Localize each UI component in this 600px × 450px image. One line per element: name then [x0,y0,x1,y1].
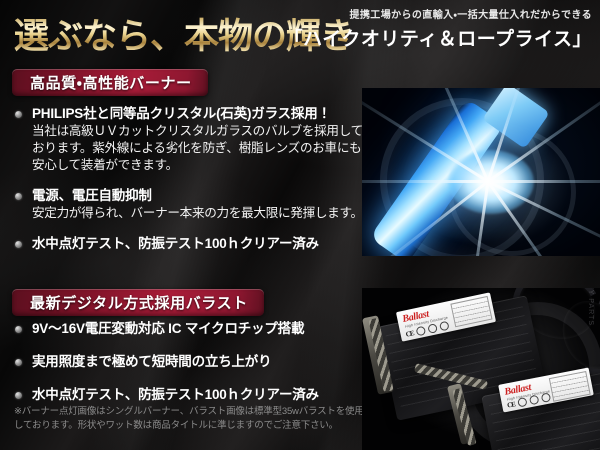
subheading-block: 提携工場からの直輸入・一括大量仕入れだからできる 「ハイクオリティ＆ロープライス… [284,6,592,51]
feature-list-burner: PHILIPS社と同等品クリスタル(石英)ガラス採用！ 当社は高級ＵＶカットクリ… [10,105,360,261]
list-item: 水中点灯テスト、防振テスト100ｈクリアー済み [10,235,360,252]
ballast-label-spec-table [450,296,492,327]
ballast-photo-watermark: HIGH QUALITY PARTS [587,288,594,326]
list-item-title: 水中点灯テスト、防振テスト100ｈクリアー済み [32,386,360,403]
list-item: 電源、電圧自動抑制 安定力が得られ、バーナー本来の力を最大限に発揮します。 [10,187,360,222]
section-badge-burner: 高品質・高性能バーナー [12,69,208,96]
list-item-title: 水中点灯テスト、防振テスト100ｈクリアー済み [32,235,360,252]
footnote-disclaimer: ※バーナー点灯画像はシングルバーナー、バラスト画像は標準型35wバラストを使用 … [14,405,359,433]
iso-mark-icon [439,321,450,332]
list-item-title: 9V〜16V電圧変動対応 IC マイクロチップ搭載 [32,320,360,337]
list-item-body-line: おります。紫外線による劣化を防ぎ、樹脂レンズのお車にも [32,140,360,157]
rohs-mark-icon [415,326,426,337]
bullet-dot-icon [15,326,22,333]
section-badge-ballast: 最新デジタル方式採用バラスト [12,289,264,316]
list-item-body-line: 安定力が得られ、バーナー本来の力を最大限に発揮します。 [32,205,360,222]
list-item: PHILIPS社と同等品クリスタル(石英)ガラス採用！ 当社は高級ＵＶカットクリ… [10,105,360,174]
promo-banner: 選ぶなら、本物の輝き 提携工場からの直輸入・一括大量仕入れだからできる 「ハイク… [0,0,600,450]
feature-list-ballast: 9V〜16V電圧変動対応 IC マイクロチップ搭載 実用照度まで極めて短時間の立… [10,320,360,412]
burner-photo [362,88,600,256]
bullet-dot-icon [15,241,22,248]
tuv-mark-icon [529,395,540,406]
bullet-dot-icon [15,193,22,200]
bullet-dot-icon [15,392,22,399]
section-badge-ballast-label: 最新デジタル方式採用バラスト [30,292,248,313]
list-item: 実用照度まで極めて短時間の立ち上がり [10,353,360,370]
list-item-body: 当社は高級ＵＶカットクリスタルガラスのバルブを採用して おります。紫外線による劣… [32,123,360,174]
banner-header: 選ぶなら、本物の輝き 提携工場からの直輸入・一括大量仕入れだからできる 「ハイク… [0,0,600,62]
ballast-photo: Ballast High Intensity Discharge CE Ball… [362,288,600,450]
list-item-title: 電源、電圧自動抑制 [32,187,360,204]
list-item-title: 実用照度まで極めて短時間の立ち上がり [32,353,360,370]
bullet-dot-icon [15,359,22,366]
rohs-mark-icon [517,397,528,408]
list-item: 9V〜16V電圧変動対応 IC マイクロチップ搭載 [10,320,360,337]
ce-mark-icon: CE [405,329,414,338]
subheading-small: 提携工場からの直輸入・一括大量仕入れだからできる [284,6,592,21]
tuv-mark-icon [427,323,438,334]
footnote-line: しております。形状やワット数は商品タイトルに準じますのでご注意下さい。 [14,419,359,433]
ce-mark-icon: CE [506,400,515,409]
list-item-body: 安定力が得られ、バーナー本来の力を最大限に発揮します。 [32,205,360,222]
subheading-large: 「ハイクオリティ＆ロープライス」 [284,24,592,51]
bullet-dot-icon [15,111,22,118]
list-item-body-line: 安心して装着ができます。 [32,157,360,174]
iso-mark-icon [540,392,551,403]
list-item: 水中点灯テスト、防振テスト100ｈクリアー済み [10,386,360,403]
footnote-line: ※バーナー点灯画像はシングルバーナー、バラスト画像は標準型35wバラストを使用 [14,405,359,419]
burner-light-rays [488,180,490,182]
list-item-body-line: 当社は高級ＵＶカットクリスタルガラスのバルブを採用して [32,123,360,140]
section-badge-burner-label: 高品質・高性能バーナー [30,72,192,93]
list-item-title: PHILIPS社と同等品クリスタル(石英)ガラス採用！ [32,105,360,122]
